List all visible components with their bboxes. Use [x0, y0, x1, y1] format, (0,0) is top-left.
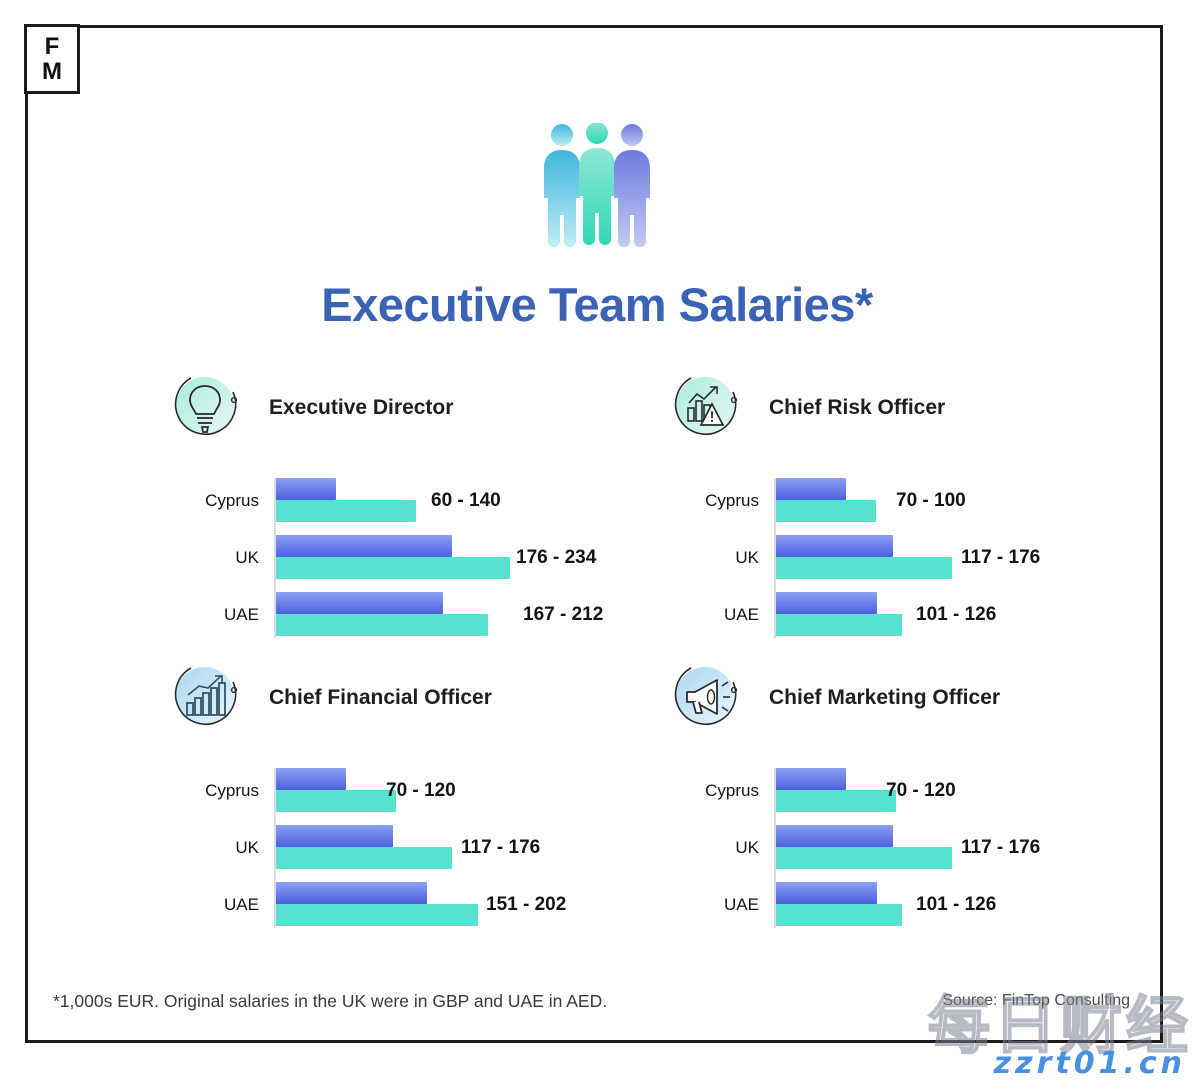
range-label: 101 - 126: [916, 604, 996, 626]
chart-row: UAE 101 - 126: [671, 592, 1091, 638]
bar-min: [776, 535, 893, 557]
fm-logo-line2: M: [42, 59, 62, 84]
bar-pair: [776, 825, 952, 869]
row-label: UAE: [171, 605, 259, 625]
panel-executive-director: Executive Director Cyprus 60 - 140 UK: [171, 368, 671, 658]
chart-executive-director: Cyprus 60 - 140 UK 176 - 234: [171, 478, 671, 638]
bar-min: [276, 592, 443, 614]
bar-max: [276, 847, 452, 869]
bar-pair: [276, 535, 510, 579]
bar-min: [776, 478, 846, 500]
range-label: 117 - 176: [961, 837, 1040, 859]
role-title: Chief Financial Officer: [269, 686, 492, 710]
range-label: 176 - 234: [516, 547, 596, 569]
panel-chief-risk-officer: Chief Risk Officer Cyprus 70 - 100 UK: [671, 368, 1171, 658]
bar-max: [276, 557, 510, 579]
lightbulb-icon: [171, 370, 247, 446]
row-label: Cyprus: [171, 491, 259, 511]
bar-min: [776, 882, 877, 904]
range-label: 151 - 202: [486, 894, 566, 916]
chart-chief-marketing-officer: Cyprus 70 - 120 UK 117 - 176: [671, 768, 1171, 928]
range-label: 167 - 212: [523, 604, 603, 626]
row-label: UAE: [171, 895, 259, 915]
chart-row: UK 176 - 234: [171, 535, 591, 581]
bar-pair: [776, 592, 902, 636]
role-title: Chief Risk Officer: [769, 396, 945, 420]
range-label: 70 - 100: [896, 490, 966, 512]
row-label: Cyprus: [171, 781, 259, 801]
bar-max: [776, 614, 902, 636]
range-label: 101 - 126: [916, 894, 996, 916]
bar-max: [776, 500, 876, 522]
row-label: Cyprus: [671, 781, 759, 801]
chart-row: UAE 151 - 202: [171, 882, 591, 928]
range-label: 70 - 120: [886, 780, 956, 802]
row-label: UK: [171, 548, 259, 568]
panel-header: Executive Director: [171, 368, 671, 448]
bar-pair: [276, 592, 488, 636]
fm-logo-line1: F: [45, 34, 60, 59]
range-label: 117 - 176: [461, 837, 540, 859]
range-label: 70 - 120: [386, 780, 456, 802]
bar-max: [776, 790, 896, 812]
chart-chief-risk-officer: Cyprus 70 - 100 UK 117 - 176: [671, 478, 1171, 638]
bar-min: [276, 882, 427, 904]
bar-pair: [276, 882, 478, 926]
panel-chief-financial-officer: Chief Financial Officer Cyprus 70 - 120 …: [171, 658, 671, 948]
row-label: UK: [171, 838, 259, 858]
bar-max: [276, 904, 478, 926]
panel-chief-marketing-officer: Chief Marketing Officer Cyprus 70 - 120 …: [671, 658, 1171, 948]
panel-header: Chief Financial Officer: [171, 658, 671, 738]
role-title: Executive Director: [269, 396, 453, 420]
bar-chart-icon: [171, 660, 247, 736]
bar-min: [776, 825, 893, 847]
chart-row: UK 117 - 176: [671, 535, 1091, 581]
bar-min: [276, 768, 346, 790]
watermark-url: zzrt01.cn: [994, 1046, 1186, 1081]
chart-row: UK 117 - 176: [671, 825, 1091, 871]
chart-row: Cyprus 60 - 140: [171, 478, 591, 524]
source-credit: Source: FinTop Consulting: [942, 992, 1130, 1010]
chart-chief-financial-officer: Cyprus 70 - 120 UK 117 - 176: [171, 768, 671, 928]
chart-row: Cyprus 70 - 100: [671, 478, 1091, 524]
chart-row: UAE 101 - 126: [671, 882, 1091, 928]
row-label: UK: [671, 838, 759, 858]
bar-max: [776, 557, 952, 579]
chart-row: Cyprus 70 - 120: [671, 768, 1091, 814]
panel-header: Chief Risk Officer: [671, 368, 1171, 448]
bar-pair: [276, 825, 452, 869]
range-label: 117 - 176: [961, 547, 1040, 569]
bar-pair: [276, 768, 396, 812]
chart-row: Cyprus 70 - 120: [171, 768, 591, 814]
bar-max: [276, 790, 396, 812]
bar-pair: [276, 478, 416, 522]
bar-max: [776, 904, 902, 926]
bar-pair: [776, 882, 902, 926]
bar-min: [276, 478, 336, 500]
bar-min: [276, 825, 393, 847]
bar-pair: [776, 535, 952, 579]
bar-min: [776, 768, 846, 790]
bar-max: [276, 500, 416, 522]
bar-min: [276, 535, 452, 557]
role-title: Chief Marketing Officer: [769, 686, 1000, 710]
infographic-frame: Executive Team Salaries*: [25, 25, 1163, 1043]
page-title: Executive Team Salaries*: [28, 277, 1166, 332]
header: Executive Team Salaries*: [28, 123, 1166, 332]
chart-row: UAE 167 - 212: [171, 592, 591, 638]
three-people-icon: [540, 123, 655, 253]
footnote: *1,000s EUR. Original salaries in the UK…: [53, 991, 607, 1012]
bar-max: [276, 614, 488, 636]
risk-chart-icon: [671, 370, 747, 446]
row-label: UAE: [671, 605, 759, 625]
fm-logo: F M: [24, 24, 80, 94]
bar-pair: [776, 768, 896, 812]
row-label: UK: [671, 548, 759, 568]
bar-pair: [776, 478, 876, 522]
panels-grid: Executive Director Cyprus 60 - 140 UK: [28, 368, 1166, 948]
row-label: UAE: [671, 895, 759, 915]
chart-row: UK 117 - 176: [171, 825, 591, 871]
bar-max: [776, 847, 952, 869]
bar-min: [776, 592, 877, 614]
range-label: 60 - 140: [431, 490, 501, 512]
row-label: Cyprus: [671, 491, 759, 511]
megaphone-icon: [671, 660, 747, 736]
panel-header: Chief Marketing Officer: [671, 658, 1171, 738]
